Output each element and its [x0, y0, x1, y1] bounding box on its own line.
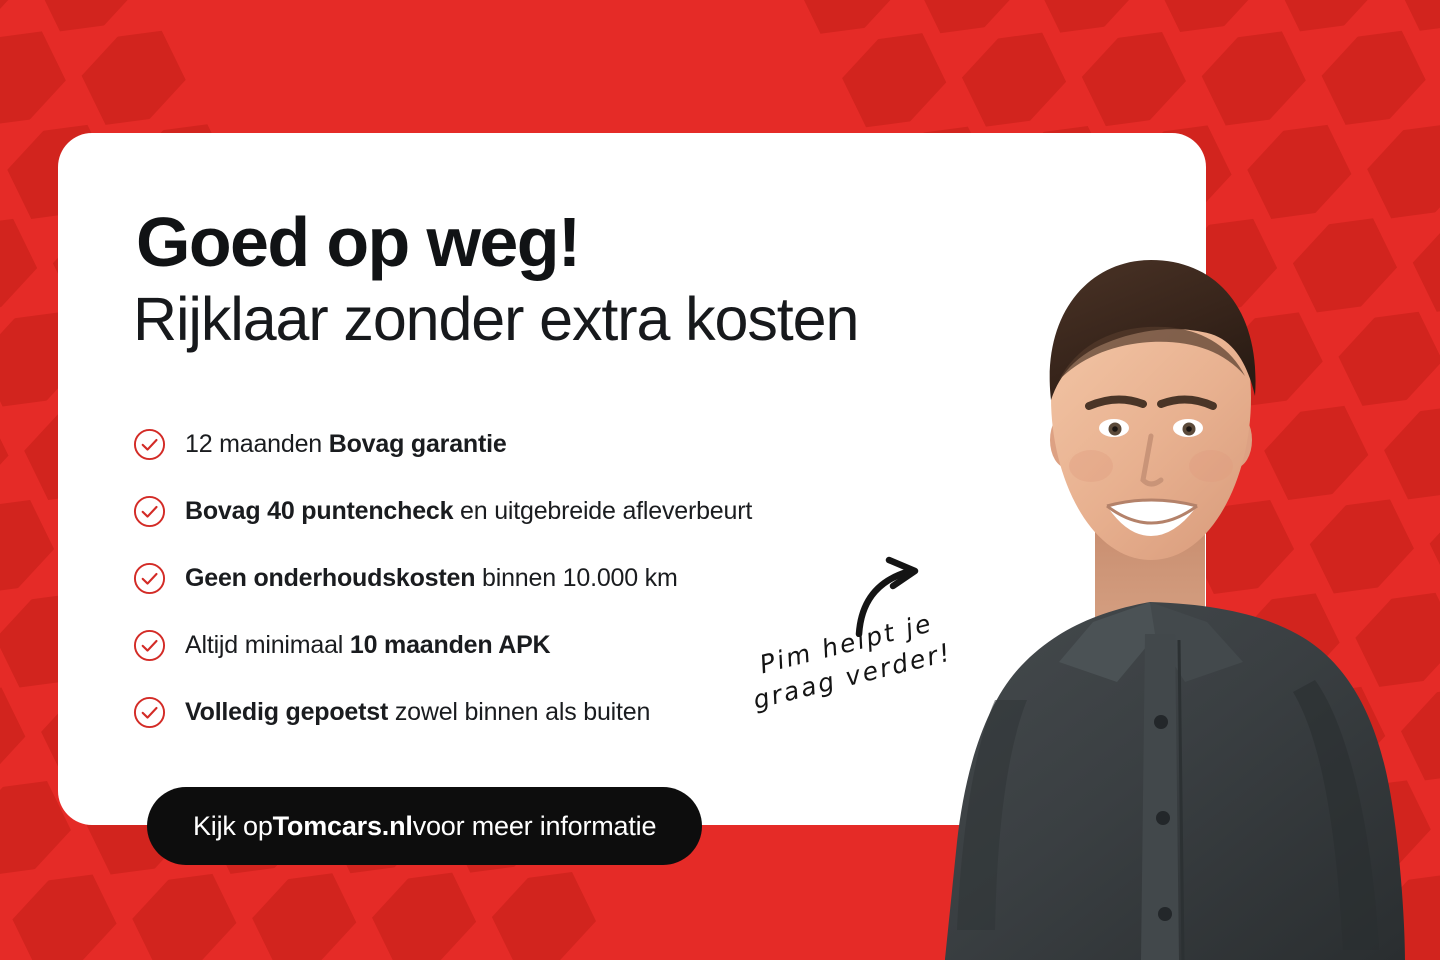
tread-block	[1330, 299, 1440, 418]
tread-block	[0, 206, 46, 325]
tread-block	[1318, 768, 1439, 887]
tread-block	[1073, 19, 1194, 138]
cta-button[interactable]: Kijk op Tomcars.nl voor meer informatie	[147, 787, 702, 865]
benefit-label-strong: Volledig gepoetst	[185, 698, 388, 726]
benefit-item: Geen onderhoudskosten binnen 10.000 km	[133, 545, 893, 612]
tread-block	[483, 859, 604, 960]
tread-block	[1256, 393, 1377, 512]
tread-block	[1239, 112, 1360, 231]
check-circle-icon	[133, 428, 166, 461]
tread-block	[1148, 0, 1269, 45]
tread-block	[529, 953, 650, 960]
benefit-item: Bovag 40 puntencheck en uitgebreide afle…	[133, 478, 893, 545]
benefit-label-strong: 10 maanden APK	[350, 631, 551, 659]
tread-block	[1210, 300, 1331, 419]
benefit-label-strong: Geen onderhoudskosten	[185, 564, 475, 592]
tread-block	[1313, 18, 1434, 137]
tread-block	[1421, 486, 1440, 605]
tread-block	[1198, 768, 1319, 887]
benefit-label-strong: Bovag garantie	[329, 430, 507, 458]
cta-brand: Tomcars.nl	[273, 811, 413, 842]
tread-block	[1227, 581, 1348, 700]
promo-banner: Goed op weg! Rijklaar zonder extra koste…	[0, 0, 1440, 960]
tread-block	[289, 954, 410, 960]
tread-block	[49, 955, 170, 960]
benefit-label: Bovag 40 puntencheck en uitgebreide afle…	[185, 497, 752, 526]
tread-block	[1028, 0, 1149, 45]
tread-block	[1409, 955, 1440, 960]
tread-block	[1359, 112, 1440, 231]
tread-block	[908, 0, 1029, 46]
tread-block	[0, 487, 63, 606]
benefit-item: Volledig gepoetst zowel binnen als buite…	[133, 679, 893, 746]
curved-arrow-up-right-icon	[845, 552, 945, 637]
tread-block	[169, 955, 290, 960]
benefit-label-strong: Bovag 40 puntencheck	[185, 497, 453, 525]
tread-block	[0, 675, 34, 794]
tread-block	[1376, 393, 1440, 512]
tread-block	[1364, 861, 1440, 960]
tread-block	[0, 0, 29, 45]
tread-block	[1267, 0, 1388, 44]
tread-block	[834, 21, 955, 140]
benefit-label: Geen onderhoudskosten binnen 10.000 km	[185, 564, 678, 593]
tread-block	[1392, 674, 1440, 793]
tread-block	[363, 860, 484, 960]
tread-block	[27, 0, 148, 44]
tread-block	[1193, 19, 1314, 138]
tread-block	[4, 862, 125, 960]
benefit-item: 12 maanden Bovag garantie	[133, 411, 893, 478]
tread-block	[409, 953, 530, 960]
benefit-label: Altijd minimaal 10 maanden APK	[185, 631, 550, 660]
tread-column	[1239, 0, 1440, 876]
tread-block	[1289, 955, 1410, 960]
headline: Goed op weg!	[136, 206, 580, 279]
tread-block	[953, 20, 1074, 139]
benefit-label: 12 maanden Bovag garantie	[185, 430, 507, 459]
check-circle-icon	[133, 562, 166, 595]
tread-block	[1284, 206, 1405, 325]
tread-block	[0, 19, 74, 138]
tread-block	[1244, 862, 1365, 960]
tread-block	[124, 861, 245, 960]
tread-block	[1404, 205, 1440, 324]
tread-block	[1433, 17, 1440, 136]
benefit-item: Altijd minimaal 10 maanden APK	[133, 612, 893, 679]
benefit-label: Volledig gepoetst zowel binnen als buite…	[185, 698, 650, 727]
tread-block	[1387, 0, 1440, 43]
subheadline: Rijklaar zonder extra kosten	[133, 285, 858, 353]
tread-block	[1301, 487, 1422, 606]
tread-block	[1347, 580, 1440, 699]
tread-block	[788, 0, 909, 46]
check-circle-icon	[133, 495, 166, 528]
tread-block	[73, 18, 194, 137]
tread-block	[244, 861, 365, 960]
check-circle-icon	[133, 629, 166, 662]
tread-block	[0, 394, 17, 513]
tread-block	[1273, 674, 1394, 793]
benefits-list: 12 maanden Bovag garantieBovag 40 punten…	[133, 411, 893, 746]
tread-column	[1337, 0, 1440, 829]
check-circle-icon	[133, 696, 166, 729]
